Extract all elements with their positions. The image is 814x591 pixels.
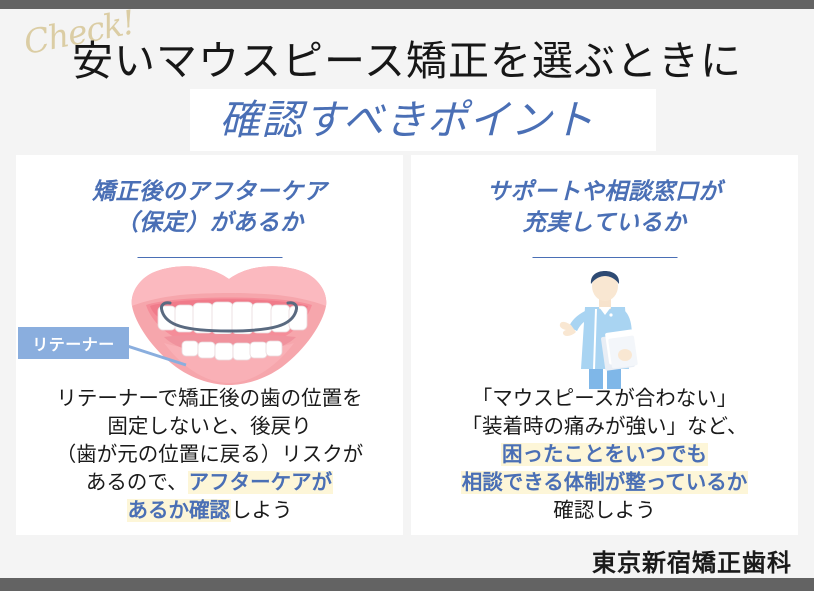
card-heading: 矯正後のアフターケア （保定）があるか bbox=[16, 176, 403, 238]
body-seg: 「マウスピースが合わない」 bbox=[472, 387, 737, 410]
illustration-lips-with-retainer: リテーナー bbox=[16, 267, 403, 385]
bottom-accent-bar bbox=[0, 578, 814, 591]
card-heading-line1: サポートや相談窓口が bbox=[487, 178, 722, 205]
body-line: （歯が元の位置に戻る）リスクが bbox=[16, 441, 403, 469]
body-line: 困ったことをいつでも bbox=[411, 441, 798, 469]
body-line: 「装着時の痛みが強い」など、 bbox=[411, 413, 798, 441]
body-seg-highlighted: あるか確認 bbox=[127, 499, 232, 522]
body-seg: リテーナーで矯正後の歯の位置を bbox=[56, 387, 362, 410]
card-heading-line2: （保定）があるか bbox=[116, 209, 304, 236]
card-container: 矯正後のアフターケア （保定）があるか リテーナー bbox=[16, 155, 798, 535]
body-line: あるか確認しよう bbox=[16, 497, 403, 525]
body-seg: 固定しないと、後戻り bbox=[107, 415, 311, 438]
header: Check! 安いマウスピース矯正を選ぶときに 確認すべきポイント bbox=[0, 9, 814, 155]
body-seg: （歯が元の位置に戻る）リスクが bbox=[56, 443, 364, 466]
card-heading-line1: 矯正後のアフターケア bbox=[92, 178, 327, 205]
retainer-callout-label: リテーナー bbox=[18, 327, 129, 359]
card-divider bbox=[532, 257, 677, 258]
card-aftercare: 矯正後のアフターケア （保定）があるか リテーナー bbox=[16, 155, 403, 535]
page-title: 安いマウスピース矯正を選ぶときに bbox=[0, 27, 814, 87]
card-heading: サポートや相談窓口が 充実しているか bbox=[411, 176, 798, 238]
staff-person-figure bbox=[541, 269, 669, 389]
card-body-text: 「マウスピースが合わない」 「装着時の痛みが強い」など、 困ったことをいつでも … bbox=[411, 385, 798, 525]
body-seg: しよう bbox=[231, 499, 293, 522]
body-line: 固定しないと、後戻り bbox=[16, 413, 403, 441]
body-line: リテーナーで矯正後の歯の位置を bbox=[16, 385, 403, 413]
body-line: 相談できる体制が整っているか bbox=[411, 469, 798, 497]
body-seg-highlighted: アフターケアが bbox=[188, 471, 334, 494]
card-divider bbox=[137, 257, 282, 258]
body-line: あるので、アフターケアが bbox=[16, 469, 403, 497]
clinic-brand-name: 東京新宿矯正歯科 bbox=[0, 543, 814, 578]
body-seg: 「装着時の痛みが強い」など、 bbox=[462, 415, 748, 438]
body-seg-highlighted: 困ったことをいつでも bbox=[501, 443, 708, 466]
callout-pointer-line bbox=[124, 341, 192, 367]
body-seg: あるので、 bbox=[86, 471, 188, 494]
body-seg: 確認しよう bbox=[553, 499, 656, 522]
card-heading-line2: 充実しているか bbox=[523, 209, 687, 236]
card-body-text: リテーナーで矯正後の歯の位置を 固定しないと、後戻り （歯が元の位置に戻る）リス… bbox=[16, 385, 403, 525]
page-subtitle: 確認すべきポイント bbox=[0, 89, 814, 151]
body-seg-highlighted: 相談できる体制が整っているか bbox=[461, 471, 749, 494]
illustration-dental-staff-person bbox=[411, 267, 798, 385]
body-line: 「マウスピースが合わない」 bbox=[411, 385, 798, 413]
lips-illustration bbox=[124, 261, 334, 387]
card-support: サポートや相談窓口が 充実しているか bbox=[411, 155, 798, 535]
body-line: 確認しよう bbox=[411, 497, 798, 525]
